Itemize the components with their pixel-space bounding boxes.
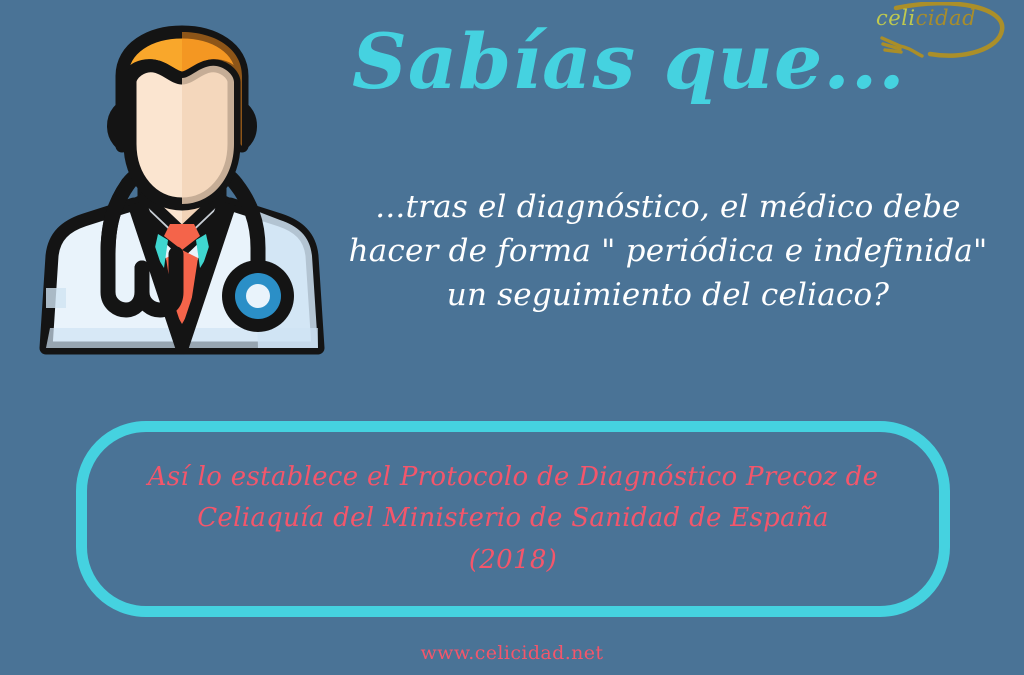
callout-line-2: Celiaquía del Ministerio de Sanidad de E… (103, 498, 923, 539)
logo-word-part-b: cidad (916, 6, 976, 30)
callout-line-3: (2018) (103, 540, 923, 581)
question-line-3: un seguimiento del celiaco? (332, 273, 1004, 317)
infographic-canvas: celicidad (0, 0, 1024, 675)
doctor-illustration-icon (22, 18, 342, 368)
callout-line-1: Así lo establece el Protocolo de Diagnós… (103, 457, 923, 498)
question-line-1: ...tras el diagnóstico, el médico debe (332, 185, 1004, 229)
question-line-2: hacer de forma " periódica e indefinida" (332, 229, 1004, 273)
page-title: Sabías que... (352, 22, 892, 102)
source-callout-box: Así lo establece el Protocolo de Diagnós… (76, 421, 950, 617)
footer-website-url[interactable]: www.celicidad.net (0, 642, 1024, 664)
question-text: ...tras el diagnóstico, el médico debe h… (332, 185, 1004, 317)
source-callout-text: Así lo establece el Protocolo de Diagnós… (103, 457, 923, 580)
doctor-avatar (22, 18, 342, 368)
